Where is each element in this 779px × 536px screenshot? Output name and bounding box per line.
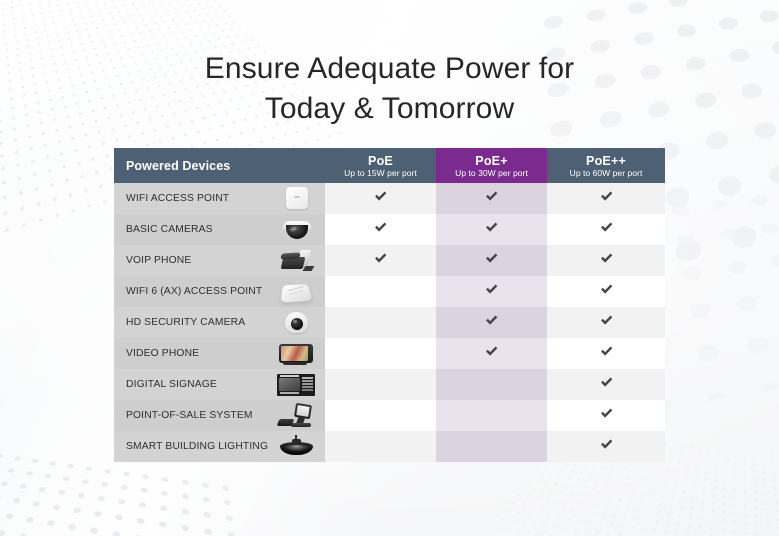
wifi-access-point-icon [275,185,317,212]
point-of-sale-icon [275,402,317,429]
cell-poe-plus [436,400,547,431]
check-icon [484,189,499,204]
page-title: Ensure Adequate Power for Today & Tomorr… [0,0,779,129]
video-phone-icon [275,340,317,367]
cell-poe-plus [436,307,547,338]
cell-poe-plus-plus [547,431,665,462]
check-icon [373,251,388,266]
cell-poe [325,338,436,369]
device-cell: VIDEO PHONE [114,338,325,369]
device-cell: WIFI ACCESS POINT [114,183,325,214]
cell-poe-plus [436,276,547,307]
page-title-line-1: Ensure Adequate Power for [0,49,779,89]
poe-comparison-table: Powered Devices PoE Up to 15W per port P… [114,148,665,462]
header-powered-devices: Powered Devices [114,148,325,183]
cell-poe-plus [436,183,547,214]
table-row: BASIC CAMERAS [114,214,665,245]
header-column-poe-plus-plus: PoE++ Up to 60W per port [547,148,665,183]
cell-poe-plus-plus [547,245,665,276]
cell-poe-plus-plus [547,369,665,400]
check-icon [599,251,614,266]
cell-poe-plus [436,245,547,276]
header-poe-plus-plus-name: PoE++ [549,155,663,168]
check-icon [599,375,614,390]
cell-poe [325,369,436,400]
device-cell: SMART BUILDING LIGHTING [114,431,325,462]
check-icon [599,344,614,359]
device-label: SMART BUILDING LIGHTING [126,441,268,452]
device-label: WIFI 6 (AX) ACCESS POINT [126,286,262,297]
header-poe-plus-plus-sub: Up to 60W per port [549,169,663,178]
header-poe-plus-name: PoE+ [438,155,545,168]
header-poe-name: PoE [327,155,434,168]
header-poe-sub: Up to 15W per port [327,169,434,178]
cell-poe-plus [436,338,547,369]
dome-camera-icon [275,216,317,243]
check-icon [373,189,388,204]
check-icon [599,189,614,204]
cell-poe [325,183,436,214]
cell-poe-plus [436,214,547,245]
header-poe-plus-sub: Up to 30W per port [438,169,545,178]
cell-poe-plus-plus [547,400,665,431]
check-icon [599,282,614,297]
device-cell: BASIC CAMERAS [114,214,325,245]
high-bay-light-icon [275,433,317,460]
header-column-poe-plus: PoE+ Up to 30W per port [436,148,547,183]
check-icon [484,251,499,266]
device-cell: POINT-OF-SALE SYSTEM [114,400,325,431]
device-label: HD SECURITY CAMERA [126,317,245,328]
table-header-row: Powered Devices PoE Up to 15W per port P… [114,148,665,183]
turret-camera-icon [275,309,317,336]
cell-poe-plus [436,369,547,400]
check-icon [484,313,499,328]
table-row: HD SECURITY CAMERA [114,307,665,338]
wifi6-access-point-icon [275,278,317,305]
device-cell: WIFI 6 (AX) ACCESS POINT [114,276,325,307]
page-title-line-2: Today & Tomorrow [0,89,779,129]
device-label: POINT-OF-SALE SYSTEM [126,410,253,421]
device-label: VIDEO PHONE [126,348,199,359]
cell-poe [325,276,436,307]
table-row: SMART BUILDING LIGHTING [114,431,665,462]
check-icon [599,437,614,452]
check-icon [373,220,388,235]
device-cell: HD SECURITY CAMERA [114,307,325,338]
header-column-poe: PoE Up to 15W per port [325,148,436,183]
cell-poe [325,245,436,276]
cell-poe [325,400,436,431]
check-icon [484,220,499,235]
table-row: VOIP PHONE [114,245,665,276]
device-label: DIGITAL SIGNAGE [126,379,217,390]
device-label: BASIC CAMERAS [126,224,213,235]
voip-phone-icon [275,247,317,274]
table-row: POINT-OF-SALE SYSTEM [114,400,665,431]
device-label: WIFI ACCESS POINT [126,193,229,204]
table-row: WIFI 6 (AX) ACCESS POINT [114,276,665,307]
table-row: WIFI ACCESS POINT [114,183,665,214]
device-label: VOIP PHONE [126,255,191,266]
cell-poe-plus [436,431,547,462]
check-icon [484,344,499,359]
table-body: WIFI ACCESS POINTBASIC CAMERASVOIP PHONE… [114,183,665,462]
check-icon [599,313,614,328]
table-row: VIDEO PHONE [114,338,665,369]
cell-poe-plus-plus [547,214,665,245]
table-row: DIGITAL SIGNAGE [114,369,665,400]
check-icon [599,406,614,421]
device-cell: VOIP PHONE [114,245,325,276]
check-icon [484,282,499,297]
check-icon [599,220,614,235]
poe-comparison-table-container: Powered Devices PoE Up to 15W per port P… [114,148,665,462]
device-cell: DIGITAL SIGNAGE [114,369,325,400]
cell-poe [325,431,436,462]
cell-poe [325,214,436,245]
cell-poe-plus-plus [547,183,665,214]
table-header: Powered Devices PoE Up to 15W per port P… [114,148,665,183]
cell-poe-plus-plus [547,307,665,338]
cell-poe-plus-plus [547,338,665,369]
digital-signage-icon [275,371,317,398]
cell-poe-plus-plus [547,276,665,307]
cell-poe [325,307,436,338]
